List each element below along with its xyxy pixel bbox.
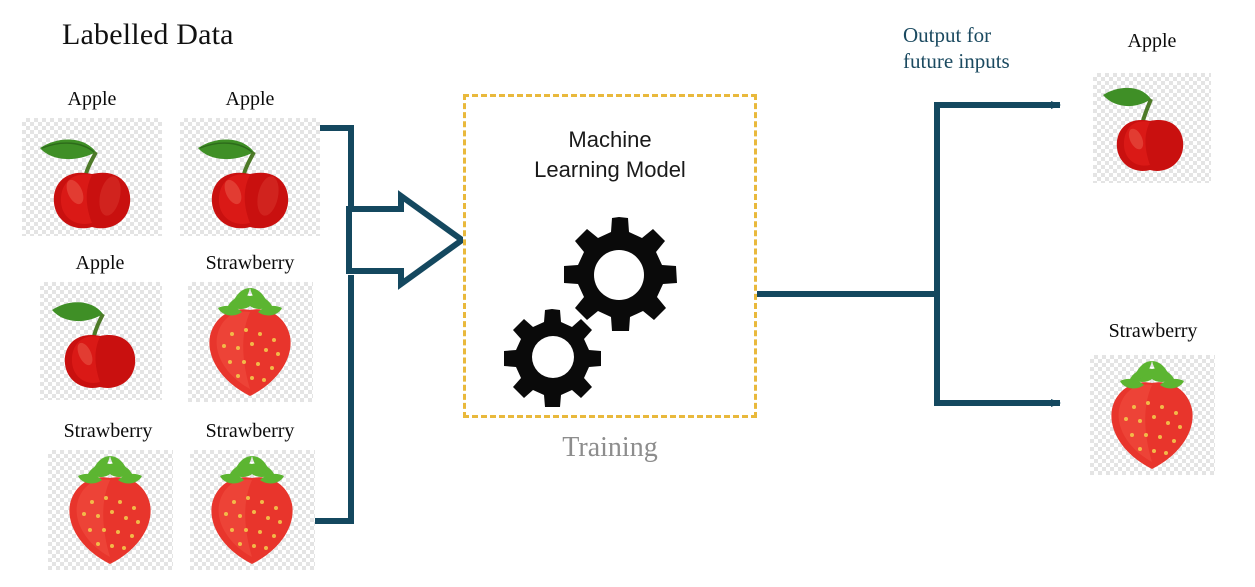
fruit-label: Strawberry xyxy=(180,252,320,275)
fruit-label: Apple xyxy=(180,88,320,111)
gears-illustration xyxy=(490,205,690,410)
training-image-apple-2 xyxy=(180,118,320,236)
output-image-strawberry xyxy=(1090,355,1215,475)
page-title: Labelled Data xyxy=(62,18,234,52)
model-title: Machine Learning Model xyxy=(463,125,757,185)
block-arrow-into-model xyxy=(349,196,462,284)
connector-output-apple xyxy=(937,105,1060,294)
training-image-strawberry-2 xyxy=(48,450,173,570)
training-caption: Training xyxy=(463,432,757,464)
training-image-strawberry-3 xyxy=(190,450,315,570)
fruit-label: Strawberry xyxy=(38,420,178,443)
fruit-label: Strawberry xyxy=(180,420,320,443)
fruit-label: Apple xyxy=(30,252,170,275)
connector-output-strawberry xyxy=(937,294,1060,403)
output-note: Output for future inputs xyxy=(903,22,1010,74)
training-image-apple-3 xyxy=(40,282,162,400)
diagram-canvas: Labelled Data Machine Learning Model xyxy=(0,0,1255,587)
fruit-label: Apple xyxy=(22,88,162,111)
output-label: Apple xyxy=(1090,30,1214,53)
output-label: Strawberry xyxy=(1086,320,1220,343)
training-image-strawberry-1 xyxy=(188,282,313,402)
training-image-apple-1 xyxy=(22,118,162,236)
output-image-apple xyxy=(1093,73,1211,183)
